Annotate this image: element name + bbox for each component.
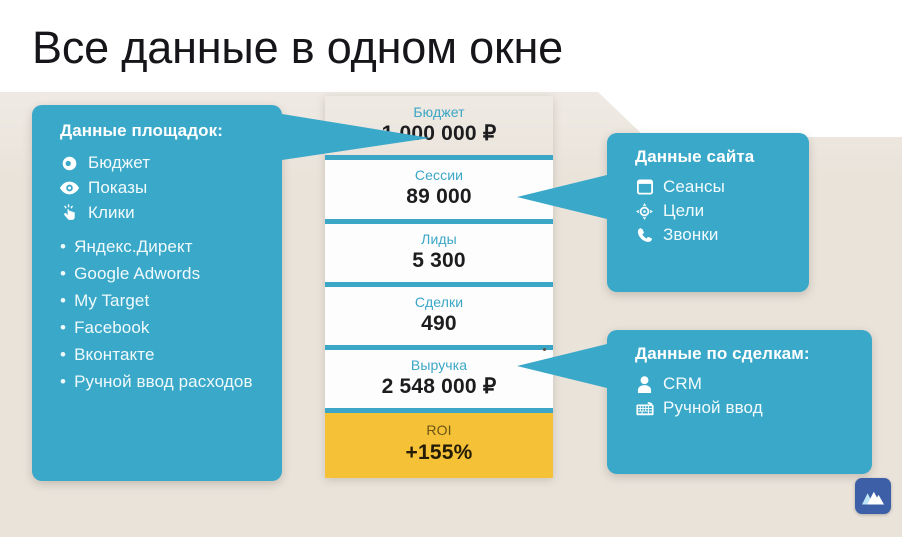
keyboard-icon [635, 401, 654, 416]
funnel-label: Сессии [325, 167, 553, 183]
funnel-column: Бюджет 1 000 000 ₽ Сессии 89 000 Лиды 5 … [325, 96, 553, 478]
list-item: • Яндекс.Директ [60, 237, 264, 257]
list-item: Бюджет [60, 153, 264, 173]
phone-icon [635, 227, 654, 243]
target-icon [635, 203, 654, 220]
callout-platform-data: Данные площадок: Бюджет Показы Клики [32, 105, 282, 481]
callout-site-data: Данные сайта Сеансы Цели Звонки [607, 133, 809, 292]
funnel-row-revenue: Выручка 2 548 000 ₽ [325, 350, 553, 408]
funnel-row-leads: Лиды 5 300 [325, 224, 553, 282]
list-item: • Ручной ввод расходов [60, 372, 264, 392]
list-item-label: Facebook [74, 318, 149, 338]
list-item-label: Ручной ввод [663, 398, 763, 418]
list-item: Ручной ввод [635, 398, 856, 418]
funnel-value: +155% [325, 440, 553, 465]
funnel-value: 5 300 [325, 248, 553, 273]
list-item: • My Target [60, 291, 264, 311]
list-item: Сеансы [635, 177, 793, 197]
eye-icon [60, 181, 79, 195]
funnel-label: Лиды [325, 231, 553, 247]
list-item: Звонки [635, 225, 793, 245]
list-item-label: Звонки [663, 225, 719, 245]
bullet-glyph: • [60, 318, 66, 338]
callout-title: Данные по сделкам: [635, 344, 856, 364]
list-item-label: CRM [663, 374, 702, 394]
funnel-row-sessions: Сессии 89 000 [325, 160, 553, 218]
list-item-label: Клики [88, 203, 135, 223]
browser-window-icon [635, 179, 654, 195]
funnel-label: Выручка [325, 357, 553, 373]
list-item-label: Вконтакте [74, 345, 154, 365]
bullet-glyph: • [60, 291, 66, 311]
funnel-label: Бюджет [325, 104, 553, 120]
list-item: • Facebook [60, 318, 264, 338]
list-item: CRM [635, 374, 856, 394]
callout-title: Данные площадок: [60, 121, 264, 141]
list-item: Цели [635, 201, 793, 221]
funnel-row-deals: Сделки 490 [325, 287, 553, 345]
bullet-glyph: • [60, 237, 66, 257]
bullet-glyph: • [60, 372, 66, 392]
funnel-label: Сделки [325, 294, 553, 310]
mountain-logo-icon [855, 478, 891, 514]
list-item-label: Google Adwords [74, 264, 200, 284]
funnel-value: 490 [325, 311, 553, 336]
callout-deals-data: Данные по сделкам: CRM Ручной ввод [607, 330, 872, 474]
list-item-label: Ручной ввод расходов [74, 372, 253, 392]
decorative-dot [543, 348, 546, 351]
click-hand-icon [60, 204, 79, 223]
list-item: Показы [60, 178, 264, 198]
list-item: • Вконтакте [60, 345, 264, 365]
platform-bullet-list: • Яндекс.Директ • Google Adwords • My Ta… [60, 237, 264, 392]
list-item-label: Сеансы [663, 177, 725, 197]
list-item: • Google Adwords [60, 264, 264, 284]
list-item-label: Яндекс.Директ [74, 237, 193, 257]
bullet-glyph: • [60, 264, 66, 284]
list-item: Клики [60, 203, 264, 223]
funnel-row-roi: ROI +155% [325, 413, 553, 477]
page-title: Все данные в одном окне [32, 22, 563, 74]
person-icon [635, 376, 654, 393]
list-item-label: My Target [74, 291, 149, 311]
callout-title: Данные сайта [635, 147, 793, 167]
list-item-label: Показы [88, 178, 147, 198]
list-item-label: Цели [663, 201, 704, 221]
funnel-label: ROI [325, 422, 553, 438]
funnel-value: 2 548 000 ₽ [325, 374, 553, 399]
coin-icon [60, 155, 79, 172]
list-item-label: Бюджет [88, 153, 150, 173]
bullet-glyph: • [60, 345, 66, 365]
